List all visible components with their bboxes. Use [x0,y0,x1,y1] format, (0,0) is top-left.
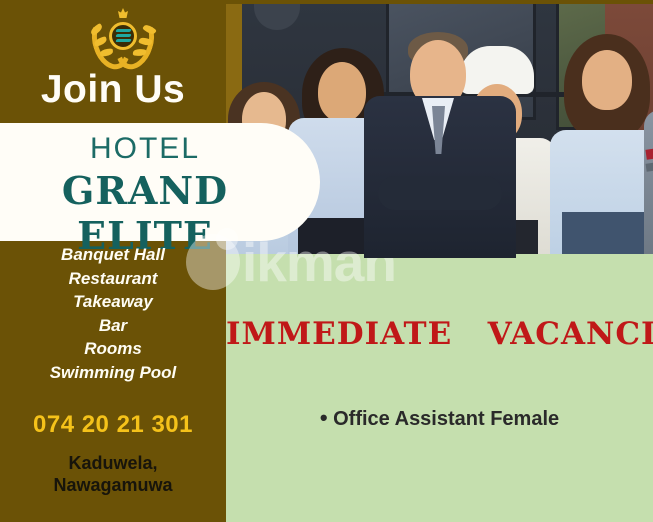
laurel-wreath-emblem-icon [92,8,154,64]
top-border-strip [0,0,653,4]
service-item: Swimming Pool [0,361,226,385]
service-item: Banquet Hall [0,243,226,267]
vacancies-heading: IMMEDIATE VACANCIES [226,316,653,352]
hotel-word: HOTEL [0,132,290,166]
bottom-border-strip [0,516,226,522]
photo-person-waitress-3 [548,32,653,258]
contact-phone-number[interactable]: 074 20 21 301 [0,411,226,439]
address-line-2: Nawagamuwa [0,474,226,496]
photo-person-manager [364,26,516,258]
service-item: Bar [0,314,226,338]
vacancies-list: • Office Assistant Female [226,405,653,431]
address-line-1: Kaduwela, [0,452,226,474]
join-us-headline: Join Us [0,68,226,112]
vacancies-panel [226,254,653,522]
job-advertisement-poster: Join Us HOTEL GRAND ELITE Banquet Hall R… [0,0,653,522]
vacancy-label: Office Assistant Female [333,408,559,430]
contact-address: Kaduwela, Nawagamuwa [0,452,226,496]
services-list: Banquet Hall Restaurant Takeaway Bar Roo… [0,243,226,384]
service-item: Restaurant [0,267,226,291]
service-item: Takeaway [0,290,226,314]
vacancy-bullet-icon: • [320,405,328,430]
photo-person-porter [644,44,653,258]
vacancy-item: • Office Assistant Female [226,405,653,431]
service-item: Rooms [0,337,226,361]
